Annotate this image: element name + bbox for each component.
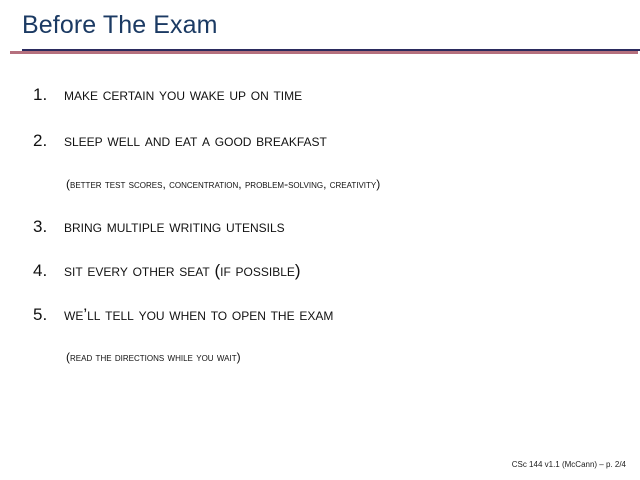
title-underline-rose bbox=[10, 51, 638, 54]
list-item-label: Make Certain You Wake Up on Time bbox=[64, 84, 302, 106]
list-item-number: 2. bbox=[33, 130, 57, 152]
list-item-label: Sleep Well and Eat a Good Breakfast bbox=[64, 130, 327, 152]
list-item-number: 3. bbox=[33, 216, 57, 238]
slide-footer: CSc 144 v1.1 (McCann) – p. 2/4 bbox=[512, 459, 626, 470]
page-title: Before The Exam bbox=[22, 10, 218, 40]
list-item-subnote: (Better Test Scores, Concentration, Prob… bbox=[66, 176, 380, 192]
slide-canvas: Before The Exam 1. Make Certain You Wake… bbox=[0, 0, 640, 480]
list-item-number: 1. bbox=[33, 84, 57, 106]
list-item-label: Sit Every Other Seat (if possible) bbox=[64, 260, 301, 282]
title-underline-navy bbox=[22, 49, 640, 51]
list-item-subnote: (Read the Directions While You Wait) bbox=[66, 349, 241, 365]
list-item-label: Bring Multiple Writing Utensils bbox=[64, 216, 285, 238]
list-item-number: 5. bbox=[33, 304, 57, 326]
list-item-number: 4. bbox=[33, 260, 57, 282]
list-item-label: We’ll Tell You When to Open the Exam bbox=[64, 304, 333, 326]
slide-header: Before The Exam bbox=[0, 8, 640, 52]
